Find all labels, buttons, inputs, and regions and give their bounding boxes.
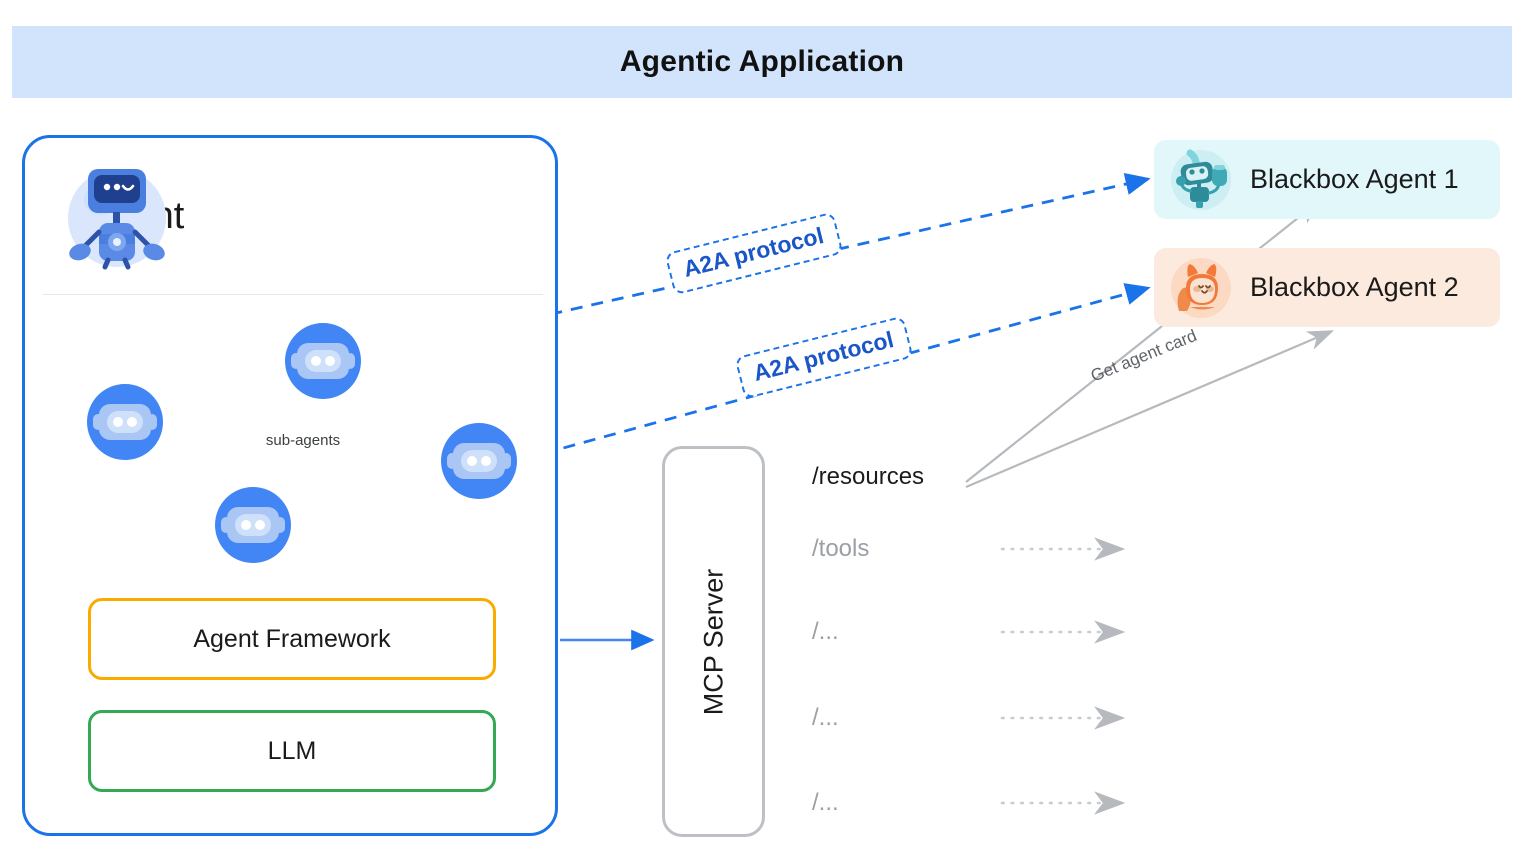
mcp-server-label: MCP Server: [698, 568, 729, 715]
blackbox-agent-1-label: Blackbox Agent 1: [1250, 164, 1459, 195]
blackbox-agent-1-card[interactable]: Blackbox Agent 1: [1154, 140, 1500, 219]
get-agent-card-arrow-1: [966, 202, 1318, 482]
resource-label: /...: [812, 618, 839, 646]
mcp-server-box[interactable]: MCP Server: [662, 446, 765, 837]
resource-label: /...: [812, 789, 839, 817]
sub-agents-label: sub-agents: [253, 432, 353, 449]
resource-row-3[interactable]: /...: [812, 617, 839, 647]
resource-row-tools[interactable]: /tools: [812, 534, 869, 564]
a2a-protocol-chip-2: A2A protocol: [734, 316, 913, 400]
get-agent-card-label: Get agent card: [1088, 326, 1200, 387]
header-banner: Agentic Application: [12, 26, 1512, 98]
resource-label: /resources: [812, 463, 924, 491]
teal-robot-avatar-icon: [1168, 147, 1234, 213]
sub-agent-left[interactable]: [86, 383, 164, 461]
resource-row-4[interactable]: /...: [812, 703, 839, 733]
sub-agent-right[interactable]: [440, 422, 518, 500]
agent-framework-label: Agent Framework: [193, 625, 390, 654]
diagram-canvas: Agentic Application: [0, 0, 1524, 864]
blackbox-agent-2-label: Blackbox Agent 2: [1250, 272, 1459, 303]
llm-box[interactable]: LLM: [88, 710, 496, 792]
agent-card-divider: [43, 294, 543, 295]
resource-row-5[interactable]: /...: [812, 788, 839, 818]
resource-label: /tools: [812, 535, 869, 563]
robot-avatar-icon: [61, 160, 173, 272]
sub-agent-bottom[interactable]: [214, 486, 292, 564]
blackbox-agent-2-card[interactable]: Blackbox Agent 2: [1154, 248, 1500, 327]
a2a-protocol-chip-1: A2A protocol: [664, 212, 843, 296]
sub-agent-top[interactable]: [284, 322, 362, 400]
agent-framework-box[interactable]: Agent Framework: [88, 598, 496, 680]
resource-row-resources[interactable]: /resources: [812, 462, 924, 492]
agent-card-header: Agent: [25, 138, 555, 294]
llm-label: LLM: [268, 737, 317, 766]
resource-label: /...: [812, 704, 839, 732]
page-title: Agentic Application: [620, 45, 904, 79]
orange-cat-avatar-icon: [1168, 255, 1234, 321]
